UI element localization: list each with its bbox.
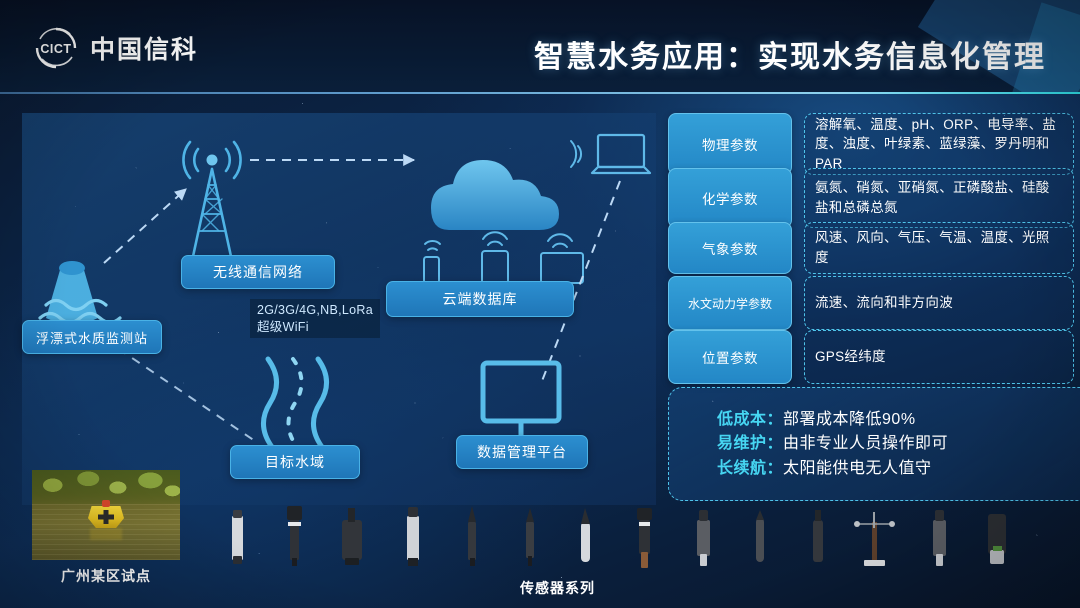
smartphone-icon: [424, 257, 439, 283]
node-label: 数据管理平台: [477, 442, 567, 462]
slide-root: CICT 中国信科 智慧水务应用：实现水务信息化管理: [0, 0, 1080, 608]
diagram-node-wireless-network[interactable]: 无线通信网络: [181, 255, 335, 289]
sensor-probe: [232, 510, 243, 564]
node-label: 浮漂式水质监测站: [36, 328, 148, 347]
link-station-to-water: [104, 339, 258, 443]
smartphone-wifi-icon: [425, 241, 440, 250]
param-key-physical[interactable]: 物理参数: [668, 113, 792, 175]
sensor-probe: [697, 510, 710, 566]
benefit-low-cost: 低成本：部署成本降低90%: [717, 410, 1080, 429]
param-value-meteorological: 风速、风向、气压、气温、温度、光照度: [804, 222, 1074, 274]
param-key-chemical[interactable]: 化学参数: [668, 168, 792, 228]
sensor-probe: [756, 510, 764, 562]
sensor-probe: [342, 508, 362, 565]
weather-station-sensor: [854, 512, 895, 566]
benefit-value: 由非专业人员操作即可: [783, 435, 948, 452]
cloud-icon: [431, 160, 559, 230]
sensor-probe: [637, 508, 652, 568]
river-dashes: [288, 359, 301, 447]
diagram-node-cloud-database[interactable]: 云端数据库: [386, 281, 574, 317]
benefit-value: 部署成本降低90%: [783, 411, 916, 428]
antenna-tower-icon: [183, 142, 240, 261]
benefit-easy-maintenance: 易维护：由非专业人员操作即可: [717, 434, 1080, 453]
sensor-probe: [988, 514, 1006, 564]
param-value-position: GPS经纬度: [804, 330, 1074, 384]
desktop-screen-icon: [541, 253, 583, 283]
buoy-icon: [40, 261, 120, 325]
param-key-meteorological[interactable]: 气象参数: [668, 222, 792, 274]
svg-text:CICT: CICT: [40, 42, 71, 56]
param-row-meteorological: 气象参数 风速、风向、气压、气温、温度、光照度: [668, 222, 1074, 274]
brand-name: 中国信科: [90, 30, 198, 66]
sensor-series-caption: 传感器系列: [520, 578, 595, 598]
cict-logo-icon: CICT: [34, 26, 78, 70]
param-value-hydrodynamic: 流速、流向和非方向波: [804, 276, 1074, 330]
sensor-series-strip: [200, 500, 1080, 580]
tablet-wifi-icon: [483, 232, 507, 245]
link-buoy-to-tower: [104, 189, 186, 263]
diagram-node-data-management-platform[interactable]: 数据管理平台: [456, 435, 588, 469]
laptop-icon: [592, 135, 650, 173]
sensor-probe: [813, 510, 823, 562]
node-label: 无线通信网络: [213, 262, 303, 282]
node-label: 目标水域: [265, 452, 325, 472]
diagram-node-buoy-station[interactable]: 浮漂式水质监测站: [22, 320, 162, 354]
sensor-probe: [287, 506, 302, 566]
sensor-probe: [526, 508, 534, 566]
benefit-key: 易维护：: [717, 435, 783, 452]
benefit-long-endurance: 长续航：太阳能供电无人值守: [717, 459, 1080, 478]
sensor-probe: [407, 507, 419, 566]
pilot-site-photo: [32, 470, 180, 560]
photo-caption: 广州某区试点: [32, 566, 180, 586]
laptop-wifi-icon: [571, 141, 581, 167]
param-row-physical: 物理参数 溶解氧、温度、pH、ORP、电导率、盐度、浊度、叶绿素、蓝绿藻、罗丹明…: [668, 113, 1074, 175]
network-tech-label: 2G/3G/4G,NB,LoRa 超级WiFi: [250, 299, 380, 338]
param-row-chemical: 化学参数 氨氮、硝氮、亚硝氮、正磷酸盐、硅酸盐和总磷总氮: [668, 168, 1074, 228]
page-title: 智慧水务应用：实现水务信息化管理: [534, 32, 1046, 76]
param-row-hydrodynamic: 水文动力学参数 流速、流向和非方向波: [668, 276, 1074, 330]
benefit-key: 低成本：: [717, 411, 783, 428]
architecture-diagram-panel: 2G/3G/4G,NB,LoRa 超级WiFi 无线通信网络 云端数据库 目标水…: [22, 113, 656, 505]
benefits-box: 低成本：部署成本降低90% 易维护：由非专业人员操作即可 长续航：太阳能供电无人…: [668, 387, 1080, 501]
param-key-hydrodynamic[interactable]: 水文动力学参数: [668, 276, 792, 330]
param-value-chemical: 氨氮、硝氮、亚硝氮、正磷酸盐、硅酸盐和总磷总氮: [804, 168, 1074, 228]
benefit-value: 太阳能供电无人值守: [783, 460, 932, 477]
benefit-key: 长续航：: [717, 460, 783, 477]
param-row-position: 位置参数 GPS经纬度: [668, 330, 1074, 384]
tablet-icon: [482, 251, 508, 285]
header-divider-line: [0, 92, 1080, 94]
brand-logo: CICT 中国信科: [34, 26, 198, 70]
sensor-probe: [581, 508, 590, 562]
sensor-probe: [468, 506, 476, 566]
param-key-position[interactable]: 位置参数: [668, 330, 792, 384]
param-value-physical: 溶解氧、温度、pH、ORP、电导率、盐度、浊度、叶绿素、蓝绿藻、罗丹明和PAR: [804, 113, 1074, 175]
diagram-node-target-water-area[interactable]: 目标水域: [230, 445, 360, 479]
node-label: 云端数据库: [443, 289, 518, 309]
sensor-probe: [933, 510, 946, 566]
desktop-wifi-icon: [548, 234, 572, 247]
monitor-icon: [483, 363, 559, 441]
